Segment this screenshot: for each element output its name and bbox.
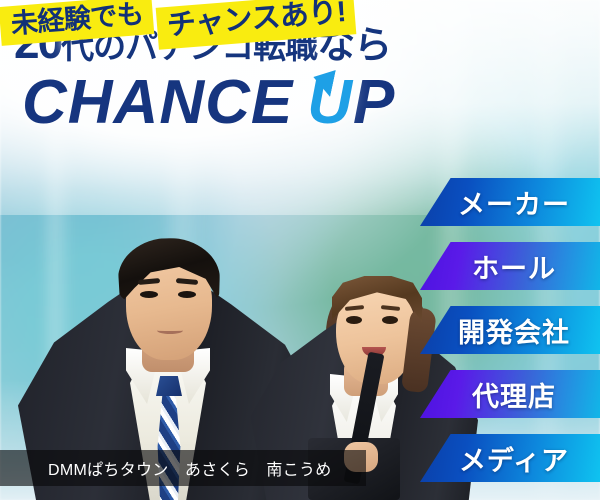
category-bar-maker[interactable]: メーカー <box>420 178 600 226</box>
category-bar-agency[interactable]: 代理店 <box>420 370 600 418</box>
category-label-agency: 代理店 <box>472 375 556 414</box>
woman-eye-right <box>382 316 398 324</box>
category-label-maker: メーカー <box>458 183 570 222</box>
category-label-media: メディア <box>459 439 569 478</box>
man-mouth <box>157 327 183 334</box>
category-bar-media[interactable]: メディア <box>420 434 600 482</box>
promo-banner[interactable]: 20代のパチンコ転職なら CHANCEUP 未経験でも チャンスあり! メーカー… <box>0 0 600 500</box>
credit-caption-text: DMMぱちタウン あさくら 南こうめ <box>48 456 332 480</box>
logo-chance-text: CHANCE <box>22 68 293 137</box>
category-bar-hall[interactable]: ホール <box>420 242 600 290</box>
category-label-hall: ホール <box>472 247 556 286</box>
category-label-developer: 開発会社 <box>458 311 570 350</box>
category-bar-developer[interactable]: 開発会社 <box>420 306 600 354</box>
man-tie-knot <box>156 376 182 396</box>
badge-line-1: 未経験でも <box>0 0 154 46</box>
chance-up-logo: CHANCEUP <box>22 72 395 134</box>
man-eye-right <box>178 291 196 298</box>
man-eye-left <box>140 291 158 298</box>
logo-up-group: UP <box>307 72 395 134</box>
logo-letter-p: P <box>353 68 395 137</box>
credit-caption-bar: DMMぱちタウン あさくら 南こうめ <box>0 450 366 486</box>
experience-badge: 未経験でも チャンスあり! <box>0 0 355 42</box>
woman-eye-left <box>346 316 362 324</box>
